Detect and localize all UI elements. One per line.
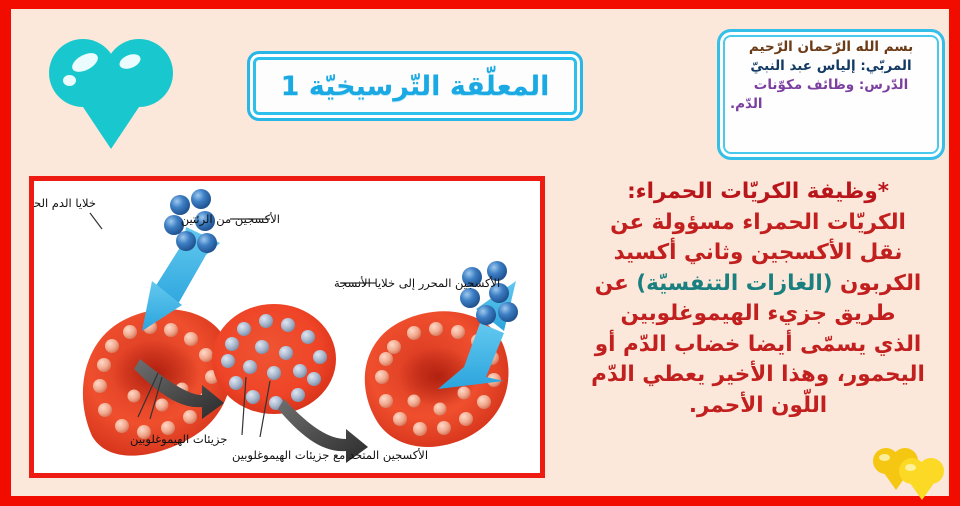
cyan-heart-highlight-2 bbox=[63, 75, 76, 86]
body-line-5: الذي يسمّى أيضا خضاب الدّم أو bbox=[559, 330, 957, 361]
label-hemoglobin-molecules: جزيئات الهيموغلوبين bbox=[130, 432, 227, 447]
body-line-3: الكربون (الغازات التنفسيّة) عن bbox=[559, 269, 957, 300]
label-oxygen-bound: الأكسجين المتحد مع جزيئات الهيموغلوبين bbox=[232, 448, 428, 463]
page-title: المعلّقة التّرسيخيّة 1 bbox=[281, 71, 550, 102]
red-blood-cell-2 bbox=[212, 304, 336, 414]
info-line-lesson: الدّرس: وظائف مكوّنات bbox=[730, 76, 932, 95]
yellow-heart-2-shine bbox=[905, 464, 916, 471]
yellow-heart-2-lobe-right bbox=[918, 458, 944, 484]
label-oxygen-released: الأكسجين المحرر إلى خلايا الأنسجة bbox=[334, 276, 500, 291]
body-line-1: الكريّات الحمراء مسؤولة عن bbox=[559, 208, 957, 239]
body-line-2: نقل الأكسجين وثاني أكسيد bbox=[559, 238, 957, 269]
lesson-body-text: *وظيفة الكريّات الحمراء: الكريّات الحمرا… bbox=[559, 177, 957, 421]
label-red-blood-cells: خلايا الدم الحمراء bbox=[34, 196, 96, 211]
body-line-4: طريق جزيء الهيموغلوبين bbox=[559, 299, 957, 330]
blood-cell-diagram: خلايا الدم الحمراء الأكسجين من الرئتين ا… bbox=[29, 176, 545, 478]
poster-root: المعلّقة التّرسيخيّة 1 بسم الله الرّحمان… bbox=[0, 0, 960, 506]
info-line-lesson-cont: الدّم. bbox=[730, 95, 932, 114]
info-box: بسم الله الرّحمان الرّحيم المربّي: إلياس… bbox=[717, 29, 945, 160]
body-line-3-b: عن bbox=[595, 271, 637, 296]
body-line-3-a: الكربون bbox=[833, 271, 922, 296]
yellow-heart-2 bbox=[899, 458, 945, 500]
yellow-hearts-icon bbox=[873, 446, 957, 502]
body-line-7: اللّون الأحمر. bbox=[559, 391, 957, 422]
label-oxygen-from-lungs: الأكسجين من الرئتين bbox=[181, 212, 280, 227]
info-line-teacher: المربّي: إلياس عبد النبيّ bbox=[730, 57, 932, 76]
yellow-heart-1-shine bbox=[879, 454, 890, 461]
body-highlight-gases: (الغازات التنفسيّة) bbox=[636, 271, 832, 296]
poster-page: المعلّقة التّرسيخيّة 1 بسم الله الرّحمان… bbox=[11, 9, 949, 496]
cyan-heart-icon bbox=[49, 37, 173, 147]
body-heading: *وظيفة الكريّات الحمراء: bbox=[559, 177, 957, 208]
info-line-basmala: بسم الله الرّحمان الرّحيم bbox=[730, 38, 932, 57]
cyan-heart-lobe-right bbox=[105, 39, 173, 107]
poster-title-plaque: المعلّقة التّرسيخيّة 1 bbox=[247, 51, 583, 121]
body-line-6: اليحمور، وهذا الأخير يعطي الدّم bbox=[559, 360, 957, 391]
